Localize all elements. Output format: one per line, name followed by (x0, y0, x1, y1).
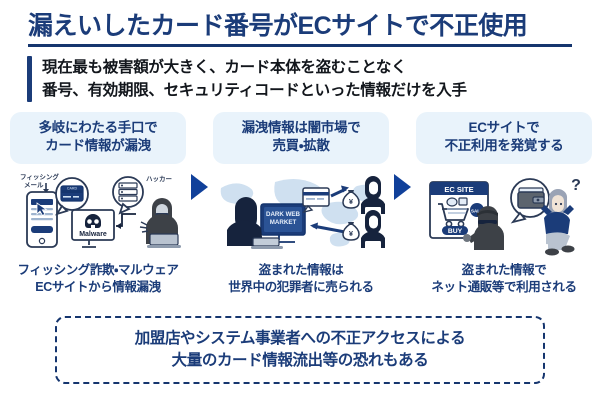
page-title-wrap: 漏えいしたカード番号がECサイトで不正使用 (0, 0, 600, 41)
step-2-header-line-2: 売買・拡散 (217, 137, 385, 155)
step-3-header-line-2: 不正利用を発覚する (420, 137, 588, 155)
step-1-caption: フィッシング詐欺・マルウェア ECサイトから情報漏洩 (18, 262, 179, 296)
step-3-caption: 盗まれた情報で ネット通販等で利用される (431, 262, 576, 296)
step-1-caption-line-2: ECサイトから情報漏洩 (18, 279, 179, 296)
step-1: 多岐にわたる手口で カード情報が漏洩 フィッシング メール (10, 112, 186, 295)
step-1-header-line-1: 多岐にわたる手口で (14, 119, 182, 137)
step-3: ECサイトで 不正利用を発覚する EC SITE (416, 112, 592, 295)
svg-text:CARD: CARD (67, 186, 78, 190)
arrow-right-icon (191, 174, 208, 200)
step-1-header: 多岐にわたる手口で カード情報が漏洩 (10, 112, 186, 163)
dark-web-label-line2: MARKET (270, 219, 297, 226)
bottom-note-line-1: 加盟店やシステム事業者への不正アクセスによる (135, 328, 466, 350)
step-3-illustration: EC SITE SALE BUY (416, 170, 592, 258)
lead-text: 現在最も被害額が大きく、カード本体を盗むことなく 番号、有効期限、セキュリティコ… (42, 56, 467, 103)
bottom-note-line-2: 大量のカード情報流出等の恐れもある (172, 350, 429, 372)
title-underline (28, 44, 572, 47)
step-1-caption-line-1: フィッシング詐欺・マルウェア (18, 262, 179, 279)
step-3-header-line-1: ECサイトで (420, 119, 588, 137)
arrow-2-to-3-cell (389, 112, 416, 262)
step-2-caption-line-1: 盗まれた情報は (228, 262, 373, 279)
lead-line-2: 番号、有効期限、セキュリティコードといった情報だけを入手 (42, 79, 467, 102)
lead-block: 現在最も被害額が大きく、カード本体を盗むことなく 番号、有効期限、セキュリティコ… (27, 56, 575, 103)
question-mark: ? (571, 177, 581, 194)
lead-accent-bar (27, 56, 32, 103)
lead-line-1: 現在最も被害額が大きく、カード本体を盗むことなく (42, 56, 467, 79)
arrow-1-to-2-cell (186, 112, 213, 262)
step-2-header: 漏洩情報は闇市場で 売買・拡散 (213, 112, 389, 163)
step-2: 漏洩情報は闇市場で 売買・拡散 (213, 112, 389, 295)
steps-row: 多岐にわたる手口で カード情報が漏洩 フィッシング メール (0, 112, 600, 295)
step-3-caption-line-1: 盗まれた情報で (431, 262, 576, 279)
step-3-header: ECサイトで 不正利用を発覚する (416, 112, 592, 163)
infographic-page: 漏えいしたカード番号がECサイトで不正使用 現在最も被害額が大きく、カード本体を… (0, 0, 600, 400)
step-1-header-line-2: カード情報が漏洩 (14, 137, 182, 155)
buy-button-label: BUY (448, 227, 463, 234)
step-2-caption: 盗まれた情報は 世界中の犯罪者に売られる (228, 262, 373, 296)
bottom-note: 加盟店やシステム事業者への不正アクセスによる 大量のカード情報流出等の恐れもある (55, 316, 545, 384)
page-title: 漏えいしたカード番号がECサイトで不正使用 (28, 12, 600, 41)
step-3-caption-line-2: ネット通販等で利用される (431, 279, 576, 296)
stolen-card-icon (303, 188, 329, 206)
ec-site-label: EC SITE (444, 185, 473, 194)
phishing-label-line2: メール (24, 181, 44, 189)
malware-label: Malware (79, 231, 107, 238)
step-2-illustration: DARK WEB MARKET (213, 170, 389, 258)
phishing-label-line1: フィッシング (20, 172, 59, 181)
step-2-header-line-1: 漏洩情報は闇市場で (217, 119, 385, 137)
hacker-label: ハッカー (146, 175, 172, 183)
step-2-caption-line-2: 世界中の犯罪者に売られる (228, 279, 373, 296)
dark-web-label-line1: DARK WEB (266, 211, 301, 218)
arrow-right-icon (394, 174, 411, 200)
step-1-illustration: フィッシング メール (10, 170, 186, 258)
